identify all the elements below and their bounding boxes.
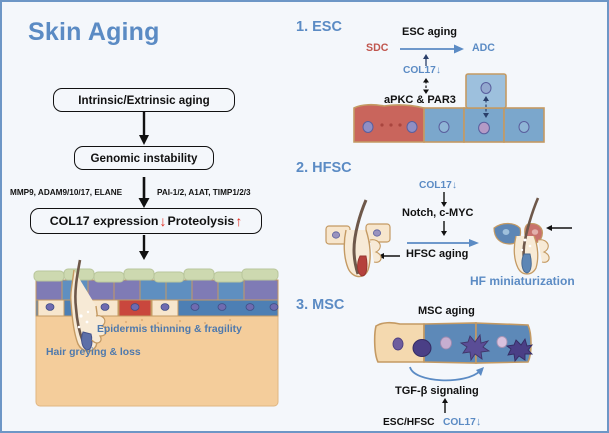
- arrow-down-2: [137, 177, 151, 209]
- label-msc-aging: MSC aging: [418, 305, 475, 317]
- figure-panel: Skin Aging Intrinsic/Extrinsic aging Gen…: [0, 0, 609, 433]
- up-arrow-icon: ↑: [235, 213, 242, 229]
- box-col17-proteolysis: COL17 expression ↓ Proteolysis ↑: [30, 208, 262, 234]
- down-arrow-icon: ↓: [452, 180, 457, 191]
- col17-expression-label: COL17 expression: [50, 214, 159, 228]
- arrow-curved-tgfb: [406, 365, 490, 387]
- box-intrinsic-extrinsic-aging: Intrinsic/Extrinsic aging: [53, 88, 235, 112]
- label-col17-esc: COL17↓: [403, 65, 441, 76]
- proteolysis-label: Proteolysis: [168, 214, 235, 228]
- label-sdc: SDC: [366, 42, 388, 54]
- down-arrow-icon: ↓: [436, 65, 441, 76]
- label-esc-hfsc-col17: ESC/HFSC COL17↓: [383, 412, 481, 430]
- label-notch-cmyc: Notch, c-MYC: [402, 207, 474, 219]
- col17-text: COL17: [443, 417, 476, 428]
- label-col17-hfsc: COL17↓: [419, 180, 457, 191]
- box-genomic-instability: Genomic instability: [74, 146, 214, 170]
- esc-cell-diagram: [350, 92, 566, 148]
- arrow-down-1: [137, 112, 151, 146]
- label-esc-aging: ESC aging: [402, 26, 457, 38]
- arrow-hfsc-aging: [407, 238, 483, 248]
- label-adc: ADC: [472, 42, 495, 54]
- skin-cross-section-diagram: [30, 260, 282, 412]
- label-epidermis-thinning: Epidermis thinning & fragility: [97, 324, 242, 335]
- label-hf-miniaturization: HF miniaturization: [470, 274, 575, 288]
- arrow-down-3: [137, 235, 151, 261]
- enzymes-right-label: PAI-1/2, A1AT, TIMP1/2/3: [157, 188, 251, 197]
- arrow-sdc-to-adc: [400, 43, 466, 55]
- enzymes-left-label: MMP9, ADAM9/10/17, ELANE: [10, 188, 122, 197]
- page-title: Skin Aging: [28, 18, 160, 47]
- arrow-up-msc: [440, 398, 450, 413]
- esc-hfsc-text: ESC/HFSC: [383, 417, 435, 428]
- down-arrow-icon: ↓: [476, 416, 482, 428]
- section-heading-hfsc: 2. HFSC: [296, 160, 352, 176]
- label-tgfb-signaling: TGF-β signaling: [395, 385, 479, 397]
- arrow-down-hfsc-2: [439, 221, 449, 237]
- label-hfsc-aging: HFSC aging: [406, 248, 468, 260]
- hair-follicle-normal-diagram: [324, 198, 410, 288]
- down-arrow-icon: ↓: [160, 213, 167, 229]
- col17-text: COL17: [419, 180, 452, 191]
- col17-text: COL17: [403, 65, 436, 76]
- label-hair-greying: Hair greying & loss: [46, 347, 141, 358]
- arrow-down-hfsc-1: [439, 192, 449, 208]
- section-heading-esc: 1. ESC: [296, 19, 342, 35]
- section-heading-msc: 3. MSC: [296, 297, 344, 313]
